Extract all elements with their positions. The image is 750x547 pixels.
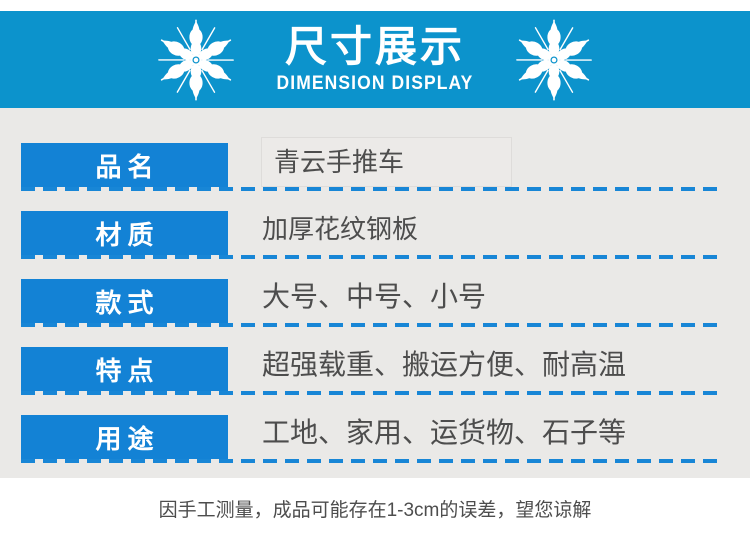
- spec-label-box: 品名: [21, 143, 228, 187]
- spec-label-box: 用途: [21, 415, 228, 459]
- spec-label-text: 品名: [89, 147, 159, 184]
- row-divider: [21, 323, 725, 327]
- row-divider: [21, 255, 725, 259]
- row-divider: [21, 459, 725, 463]
- spec-value-text: 加厚花纹钢板: [262, 216, 418, 242]
- spec-value-field: 工地、家用、运货物、石子等: [262, 407, 732, 459]
- spec-value-field: 大号、中号、小号: [262, 271, 732, 323]
- spec-value-field[interactable]: 青云手推车: [261, 137, 512, 187]
- header-banner: 尺寸展示 DIMENSION DISPLAY: [0, 11, 750, 108]
- row-divider: [21, 391, 725, 395]
- spec-label-text: 材质: [89, 215, 159, 252]
- flower-snowflake-icon-left: [152, 16, 240, 104]
- spec-label-box: 特点: [21, 347, 228, 391]
- measurement-disclaimer: 因手工测量，成品可能存在1-3cm的误差，望您谅解: [0, 495, 750, 522]
- spec-label-box: 款式: [21, 279, 228, 323]
- table-row: 品名 青云手推车: [0, 135, 750, 203]
- spec-value-text: 青云手推车: [274, 149, 404, 175]
- spec-value-field: 超强载重、搬运方便、耐高温: [262, 339, 732, 391]
- spec-value-text: 超强载重、搬运方便、耐高温: [262, 351, 626, 379]
- banner-title-cn: 尺寸展示: [285, 26, 465, 68]
- table-row: 款式 大号、中号、小号: [0, 271, 750, 339]
- dimension-display-page: 尺寸展示 DIMENSION DISPLAY: [0, 0, 750, 547]
- row-divider: [21, 187, 725, 191]
- spec-table: 品名 青云手推车 材质 加厚花纹钢板 款式 大号、中号、小号: [0, 108, 750, 478]
- spec-value-text: 工地、家用、运货物、石子等: [262, 419, 626, 447]
- banner-title-block: 尺寸展示 DIMENSION DISPLAY: [268, 26, 482, 93]
- spec-value-field: 加厚花纹钢板: [262, 203, 732, 255]
- spec-label-text: 款式: [89, 283, 159, 320]
- spec-value-text: 大号、中号、小号: [262, 283, 486, 311]
- banner-title-en: DIMENSION DISPLAY: [277, 74, 474, 93]
- table-row: 特点 超强载重、搬运方便、耐高温: [0, 339, 750, 407]
- spec-label-text: 用途: [89, 419, 159, 456]
- spec-label-box: 材质: [21, 211, 228, 255]
- spec-label-text: 特点: [89, 351, 159, 388]
- table-row: 材质 加厚花纹钢板: [0, 203, 750, 271]
- table-row: 用途 工地、家用、运货物、石子等: [0, 407, 750, 475]
- flower-snowflake-icon-right: [510, 16, 598, 104]
